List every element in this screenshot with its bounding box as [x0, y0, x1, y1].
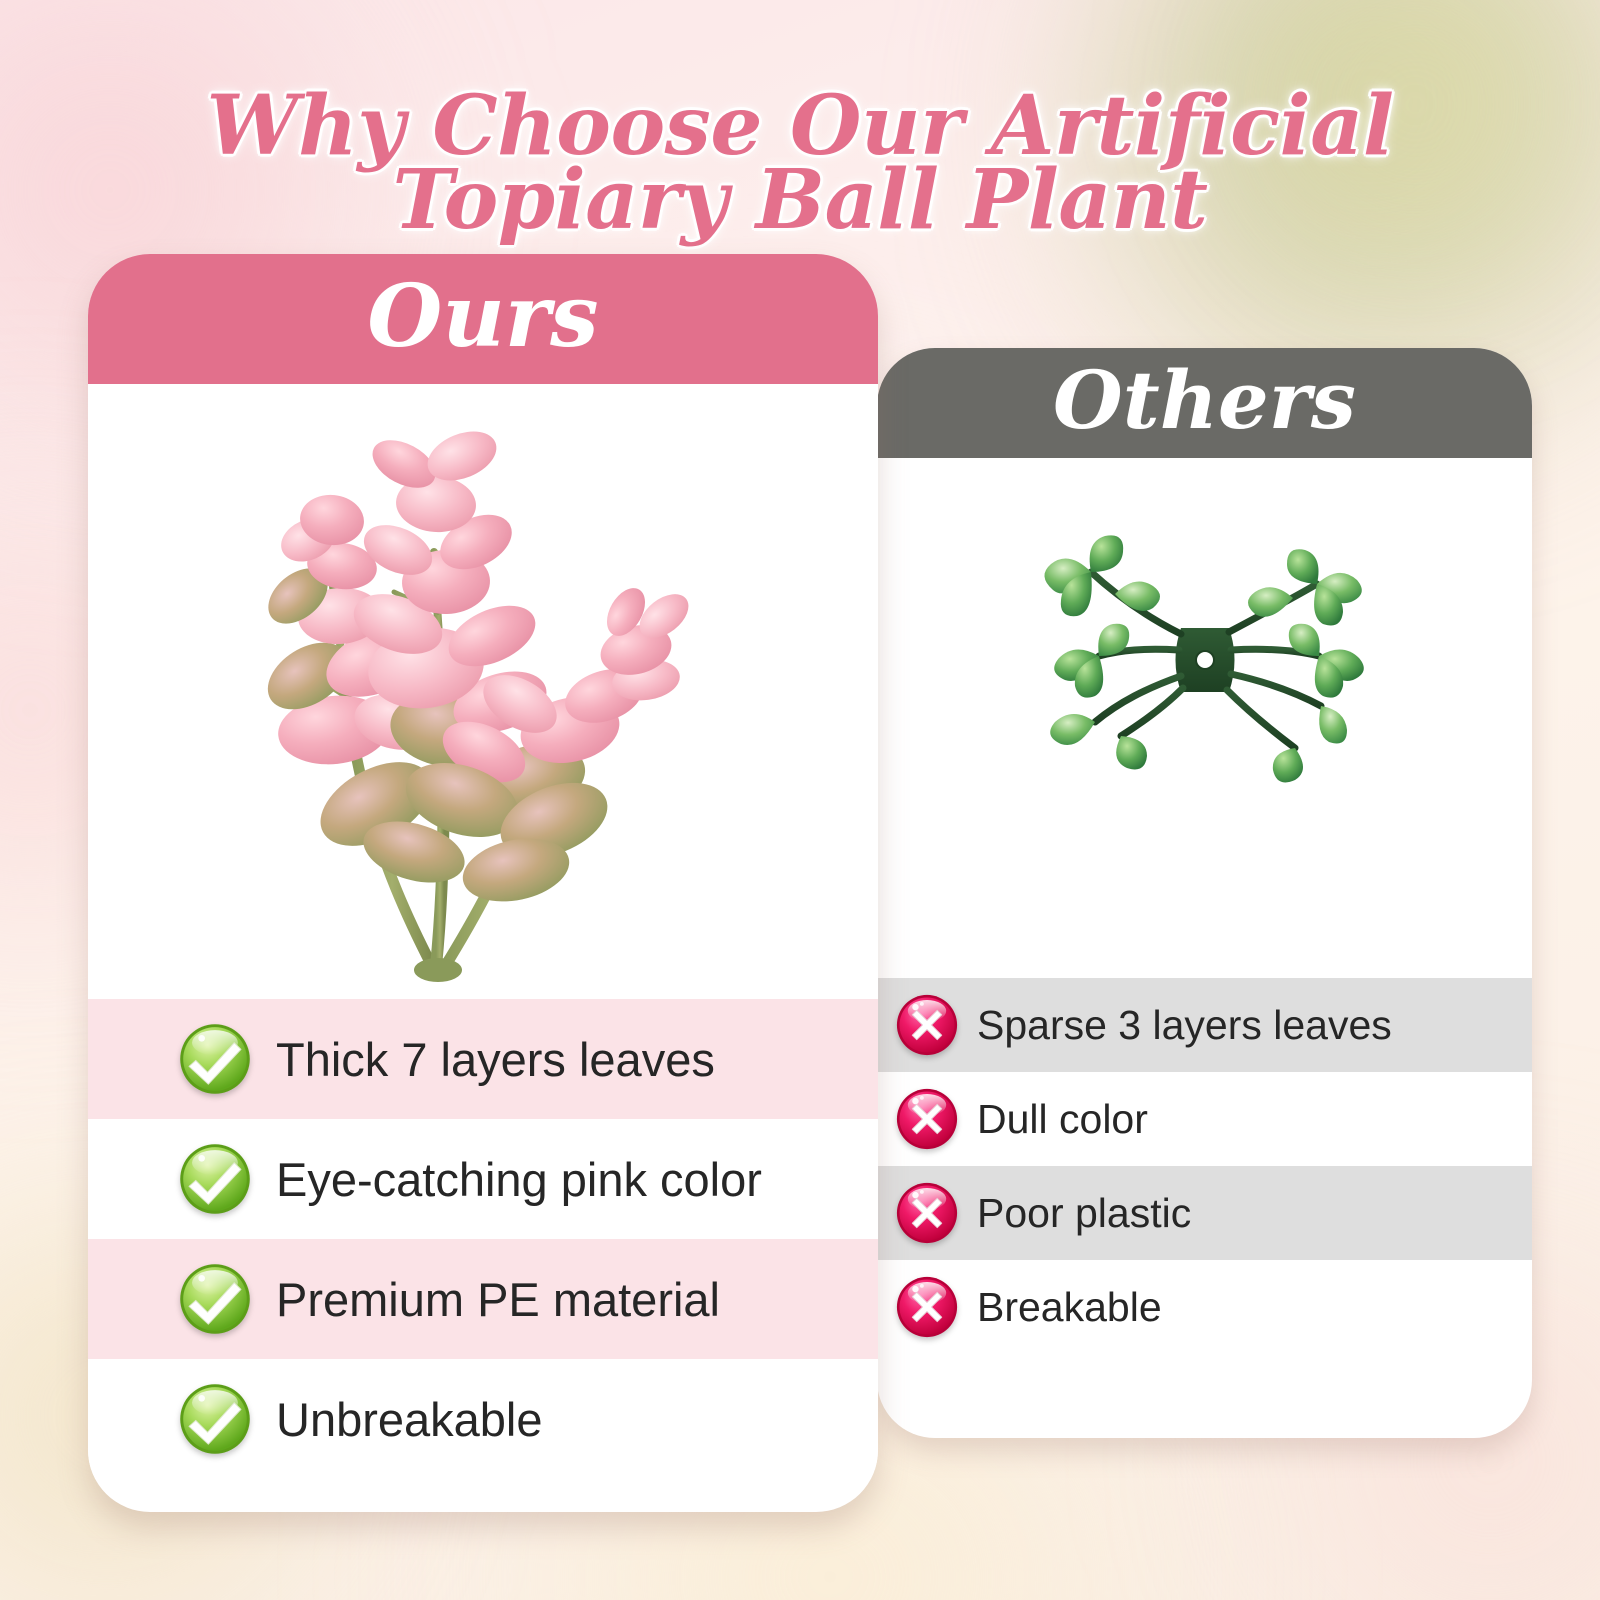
list-item: Dull color: [877, 1072, 1532, 1166]
cross-circle-icon: [895, 993, 959, 1057]
check-circle-icon: [178, 1382, 252, 1456]
list-item-label: Poor plastic: [977, 1190, 1191, 1237]
check-circle-icon: [178, 1142, 252, 1216]
list-item: Poor plastic: [877, 1166, 1532, 1260]
cross-circle-icon: [895, 1087, 959, 1151]
list-item-label: Dull color: [977, 1096, 1148, 1143]
list-item-label: Eye-catching pink color: [276, 1152, 762, 1207]
list-item: Breakable: [877, 1260, 1532, 1354]
list-item: Unbreakable: [88, 1359, 878, 1479]
cross-circle-icon: [895, 1275, 959, 1339]
page-title: Why Choose Our Artificial Topiary Ball P…: [0, 89, 1600, 237]
others-card-header: Others: [877, 348, 1532, 458]
others-comparison-card: Others: [877, 348, 1532, 1438]
page-title-line-2: Topiary Ball Plant: [0, 163, 1600, 237]
list-item-label: Breakable: [977, 1284, 1162, 1331]
list-item: Premium PE material: [88, 1239, 878, 1359]
green-plastic-sprig-illustration: [995, 510, 1415, 810]
others-product-image: [877, 458, 1532, 978]
list-item-label: Thick 7 layers leaves: [276, 1032, 715, 1087]
check-circle-icon: [178, 1022, 252, 1096]
ours-product-image: [88, 384, 878, 999]
cross-circle-icon: [895, 1181, 959, 1245]
pink-topiary-stems-illustration: [248, 400, 718, 990]
list-item-label: Premium PE material: [276, 1272, 720, 1327]
ours-comparison-card: Ours: [88, 254, 878, 1512]
list-item-label: Sparse 3 layers leaves: [977, 1002, 1392, 1049]
ours-card-header: Ours: [88, 254, 878, 384]
ours-feature-list: Thick 7 layers leaves Eye-catching pink …: [88, 999, 878, 1479]
list-item: Eye-catching pink color: [88, 1119, 878, 1239]
list-item: Sparse 3 layers leaves: [877, 978, 1532, 1072]
check-circle-icon: [178, 1262, 252, 1336]
list-item-label: Unbreakable: [276, 1392, 543, 1447]
others-feature-list: Sparse 3 layers leaves Dull color: [877, 978, 1532, 1354]
list-item: Thick 7 layers leaves: [88, 999, 878, 1119]
